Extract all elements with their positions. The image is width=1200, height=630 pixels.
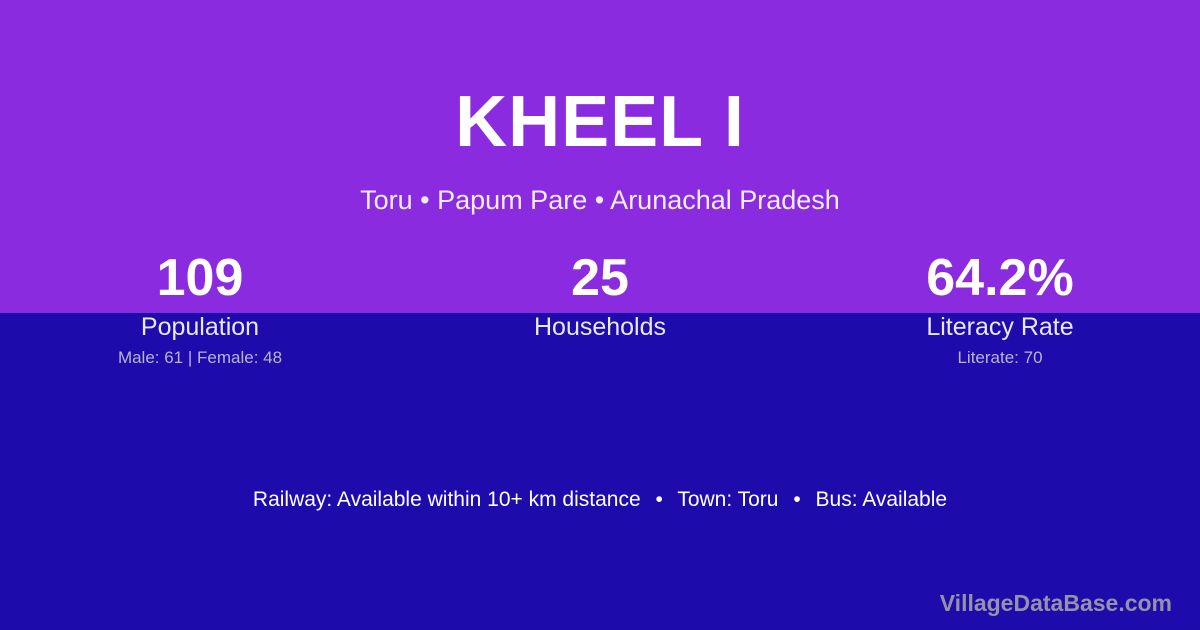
amenity-separator: • bbox=[646, 488, 671, 511]
stat-households: 25 Households bbox=[400, 250, 800, 369]
stat-subtext: Literate: 70 bbox=[800, 347, 1200, 369]
stats-row: 109 Population Male: 61 | Female: 48 25 … bbox=[0, 250, 1200, 369]
amenity-bus: Bus: Available bbox=[816, 488, 948, 511]
stat-value: 109 bbox=[0, 250, 400, 306]
breadcrumb: Toru • Papum Pare • Arunachal Pradesh bbox=[0, 183, 1200, 217]
stat-value: 25 bbox=[400, 250, 800, 306]
stat-literacy-rate: 64.2% Literacy Rate Literate: 70 bbox=[800, 250, 1200, 369]
stat-value: 64.2% bbox=[800, 250, 1200, 306]
amenity-railway: Railway: Available within 10+ km distanc… bbox=[253, 488, 641, 511]
site-watermark: VillageDataBase.com bbox=[940, 588, 1172, 618]
stat-label: Households bbox=[400, 312, 800, 342]
stat-label: Population bbox=[0, 312, 400, 342]
amenity-town: Town: Toru bbox=[677, 488, 778, 511]
page-title: KHEEL I bbox=[0, 82, 1200, 162]
stat-population: 109 Population Male: 61 | Female: 48 bbox=[0, 250, 400, 369]
village-info-card: KHEEL I Toru • Papum Pare • Arunachal Pr… bbox=[0, 0, 1200, 630]
stat-subtext: Male: 61 | Female: 48 bbox=[0, 347, 400, 369]
amenity-separator: • bbox=[784, 488, 809, 511]
stat-label: Literacy Rate bbox=[800, 312, 1200, 342]
amenities-line: Railway: Available within 10+ km distanc… bbox=[0, 486, 1200, 514]
